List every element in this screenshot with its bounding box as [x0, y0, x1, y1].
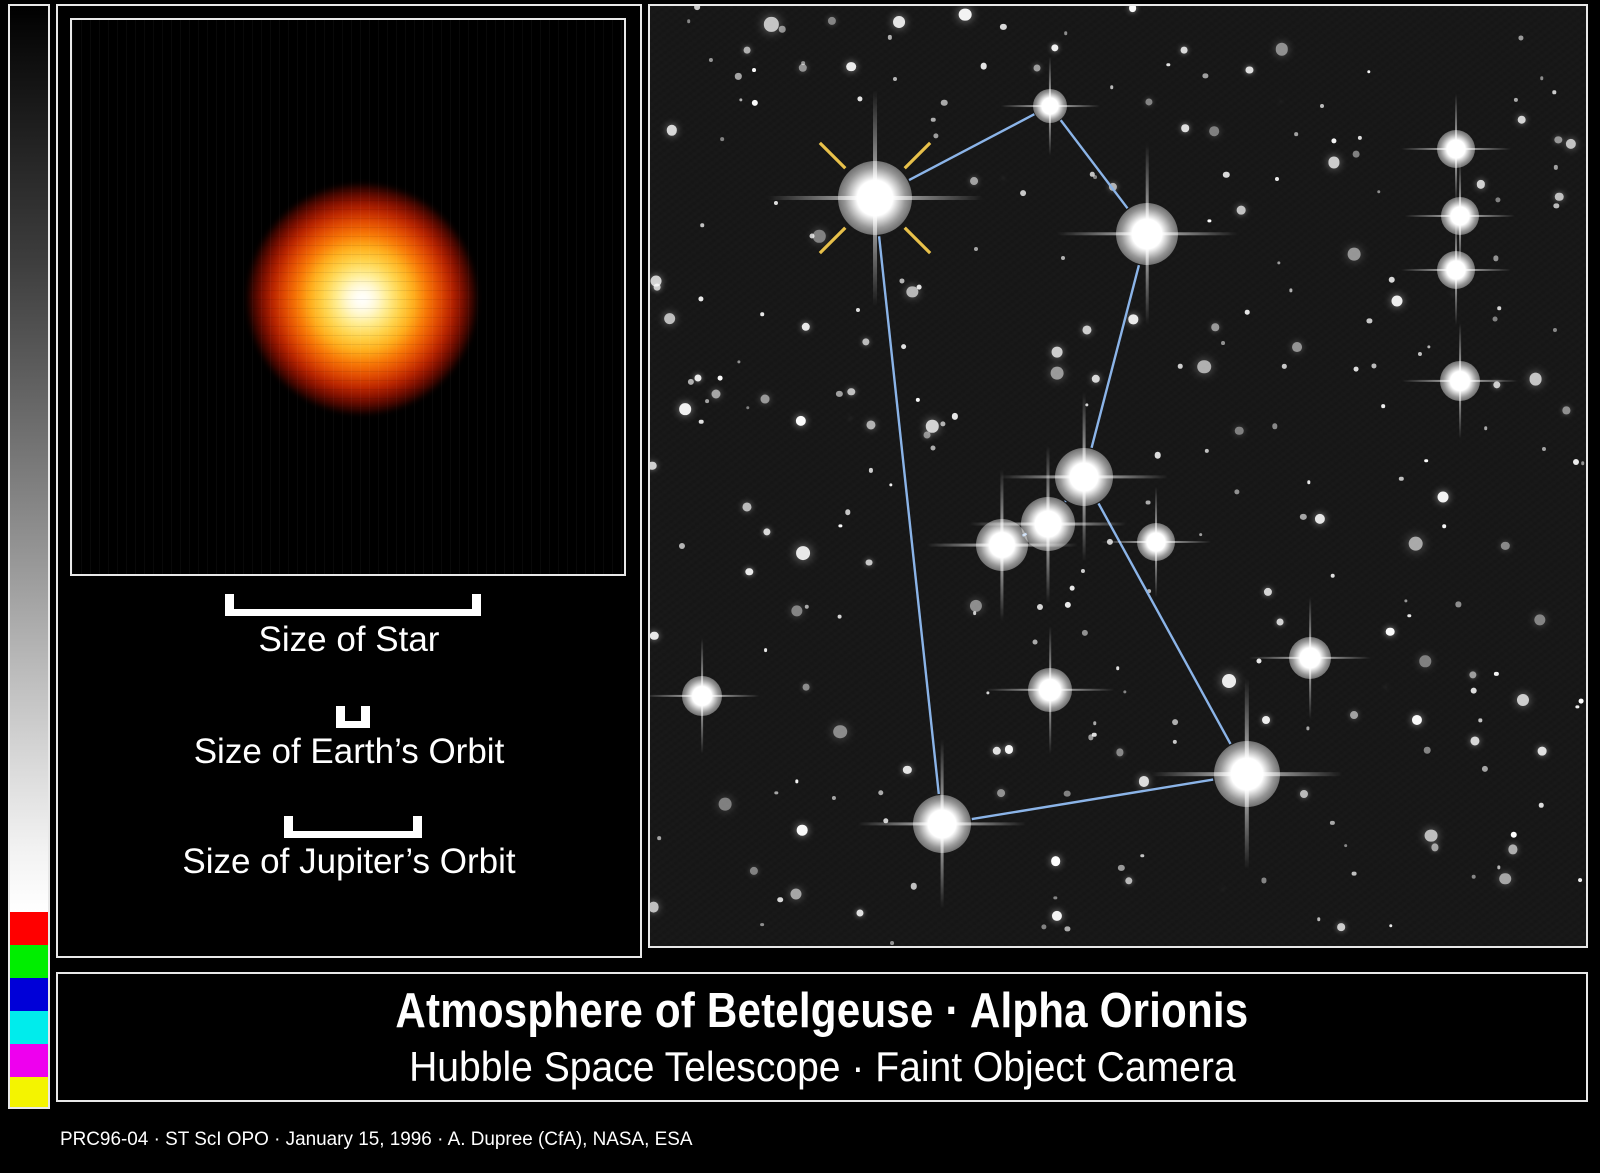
page-title: Atmosphere of Betelgeuse · Alpha Orionis: [396, 982, 1249, 1040]
colour-swatch-cyan: [10, 1011, 48, 1044]
bracket-tick-left: [284, 816, 293, 838]
colour-swatch-yellow: [10, 1077, 48, 1109]
betelgeuse-marker-tick-1: [820, 228, 845, 253]
grayscale-ramp: [10, 6, 48, 912]
left-panel: Size of Star Size of Earth’s Orbit Size …: [56, 4, 642, 958]
bracket-tick-left: [336, 706, 345, 728]
scale-size-of-star: Size of Star: [58, 594, 640, 662]
intensity-colour-wedge: [8, 4, 50, 1109]
bracket-tick-right: [361, 706, 370, 728]
scale-bracket: [336, 706, 370, 728]
orion-constellation-panel: [648, 4, 1588, 948]
bracket-tick-right: [472, 594, 481, 616]
colour-swatch-magenta: [10, 1044, 48, 1077]
betelgeuse-marker-layer: [650, 6, 1586, 946]
scale-size-of-earths-orbit: Size of Earth’s Orbit: [58, 706, 640, 774]
pixel-mosaic-overlay: [72, 20, 624, 574]
bracket-bar: [225, 609, 481, 616]
bracket-bar: [284, 831, 422, 838]
betelgeuse-marker-tick-0: [905, 228, 930, 253]
betelgeuse-image-frame: [70, 18, 626, 576]
bracket-tick-right: [413, 816, 422, 838]
scale-label: Size of Star: [58, 618, 640, 662]
colour-swatch-red: [10, 912, 48, 945]
credit-line: PRC96-04 · ST ScI OPO · January 15, 1996…: [60, 1128, 693, 1151]
scale-size-of-jupiters-orbit: Size of Jupiter’s Orbit: [58, 816, 640, 884]
colour-swatch-blue: [10, 978, 48, 1011]
colour-swatch-green: [10, 945, 48, 978]
scale-label: Size of Jupiter’s Orbit: [58, 840, 640, 884]
scale-bracket: [225, 594, 481, 616]
scale-bracket: [284, 816, 422, 838]
betelgeuse-marker-tick-2: [820, 143, 845, 168]
scale-label: Size of Earth’s Orbit: [58, 730, 640, 774]
title-plate: Atmosphere of Betelgeuse · Alpha Orionis…: [56, 972, 1588, 1102]
poster-canvas: Size of Star Size of Earth’s Orbit Size …: [0, 0, 1600, 1173]
page-subtitle: Hubble Space Telescope · Faint Object Ca…: [409, 1042, 1235, 1092]
betelgeuse-marker-tick-3: [905, 143, 930, 168]
bracket-tick-left: [225, 594, 234, 616]
